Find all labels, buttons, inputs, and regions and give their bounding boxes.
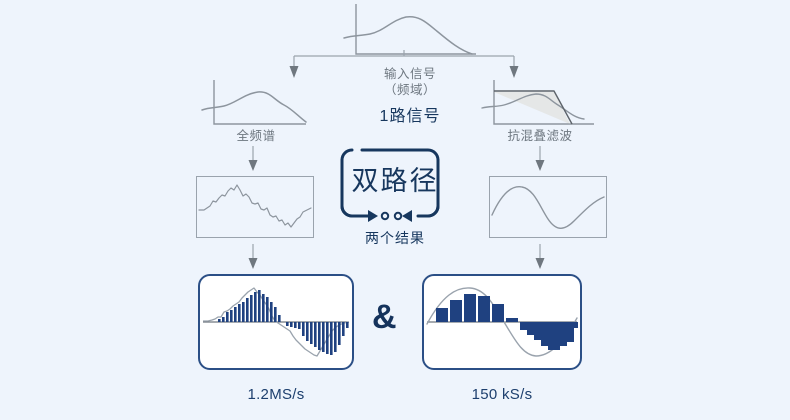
anti-alias-filter-chart bbox=[480, 78, 600, 130]
two-results-caption: 两个结果 bbox=[338, 228, 452, 248]
input-signal-domain-label: （频域） bbox=[335, 82, 485, 98]
low-rate-sampled-bars-svg bbox=[424, 276, 580, 368]
sine-waveform-box bbox=[489, 176, 607, 238]
full-spectrum-chart bbox=[200, 78, 310, 130]
full-spectrum-label: 全频谱 bbox=[198, 128, 314, 144]
low-rate-result-panel bbox=[422, 274, 582, 370]
full-spectrum-svg bbox=[200, 78, 310, 130]
one-channel-signal-caption: 1路信号 bbox=[335, 102, 485, 126]
anti-alias-filter-label: 抗混叠滤波 bbox=[478, 128, 602, 144]
ampersand-conjunction: & bbox=[372, 300, 397, 334]
dual-path-title: 双路径 bbox=[338, 168, 452, 195]
left-branch-arrow-1 bbox=[246, 146, 260, 172]
noisy-waveform-svg bbox=[197, 177, 313, 237]
high-rate-result-panel bbox=[198, 274, 354, 370]
input-signal-label: 输入信号 bbox=[335, 66, 485, 82]
anti-alias-filter-svg bbox=[480, 78, 600, 130]
high-rate-sampled-bars-svg bbox=[200, 276, 352, 368]
sine-waveform-svg bbox=[490, 177, 606, 237]
high-rate-label: 1.2MS/s bbox=[198, 386, 354, 403]
down-arrow-icon bbox=[246, 146, 260, 172]
right-branch-arrow-1 bbox=[533, 146, 547, 172]
noisy-waveform-box bbox=[196, 176, 314, 238]
left-branch-arrow-2 bbox=[246, 244, 260, 270]
down-arrow-icon bbox=[533, 244, 547, 270]
low-rate-label: 150 kS/s bbox=[422, 386, 582, 403]
right-branch-arrow-2 bbox=[533, 244, 547, 270]
down-arrow-icon bbox=[533, 146, 547, 172]
down-arrow-icon bbox=[246, 244, 260, 270]
diagram-canvas: 输入信号 （频域） 1路信号 全频谱 抗混 bbox=[0, 0, 790, 420]
